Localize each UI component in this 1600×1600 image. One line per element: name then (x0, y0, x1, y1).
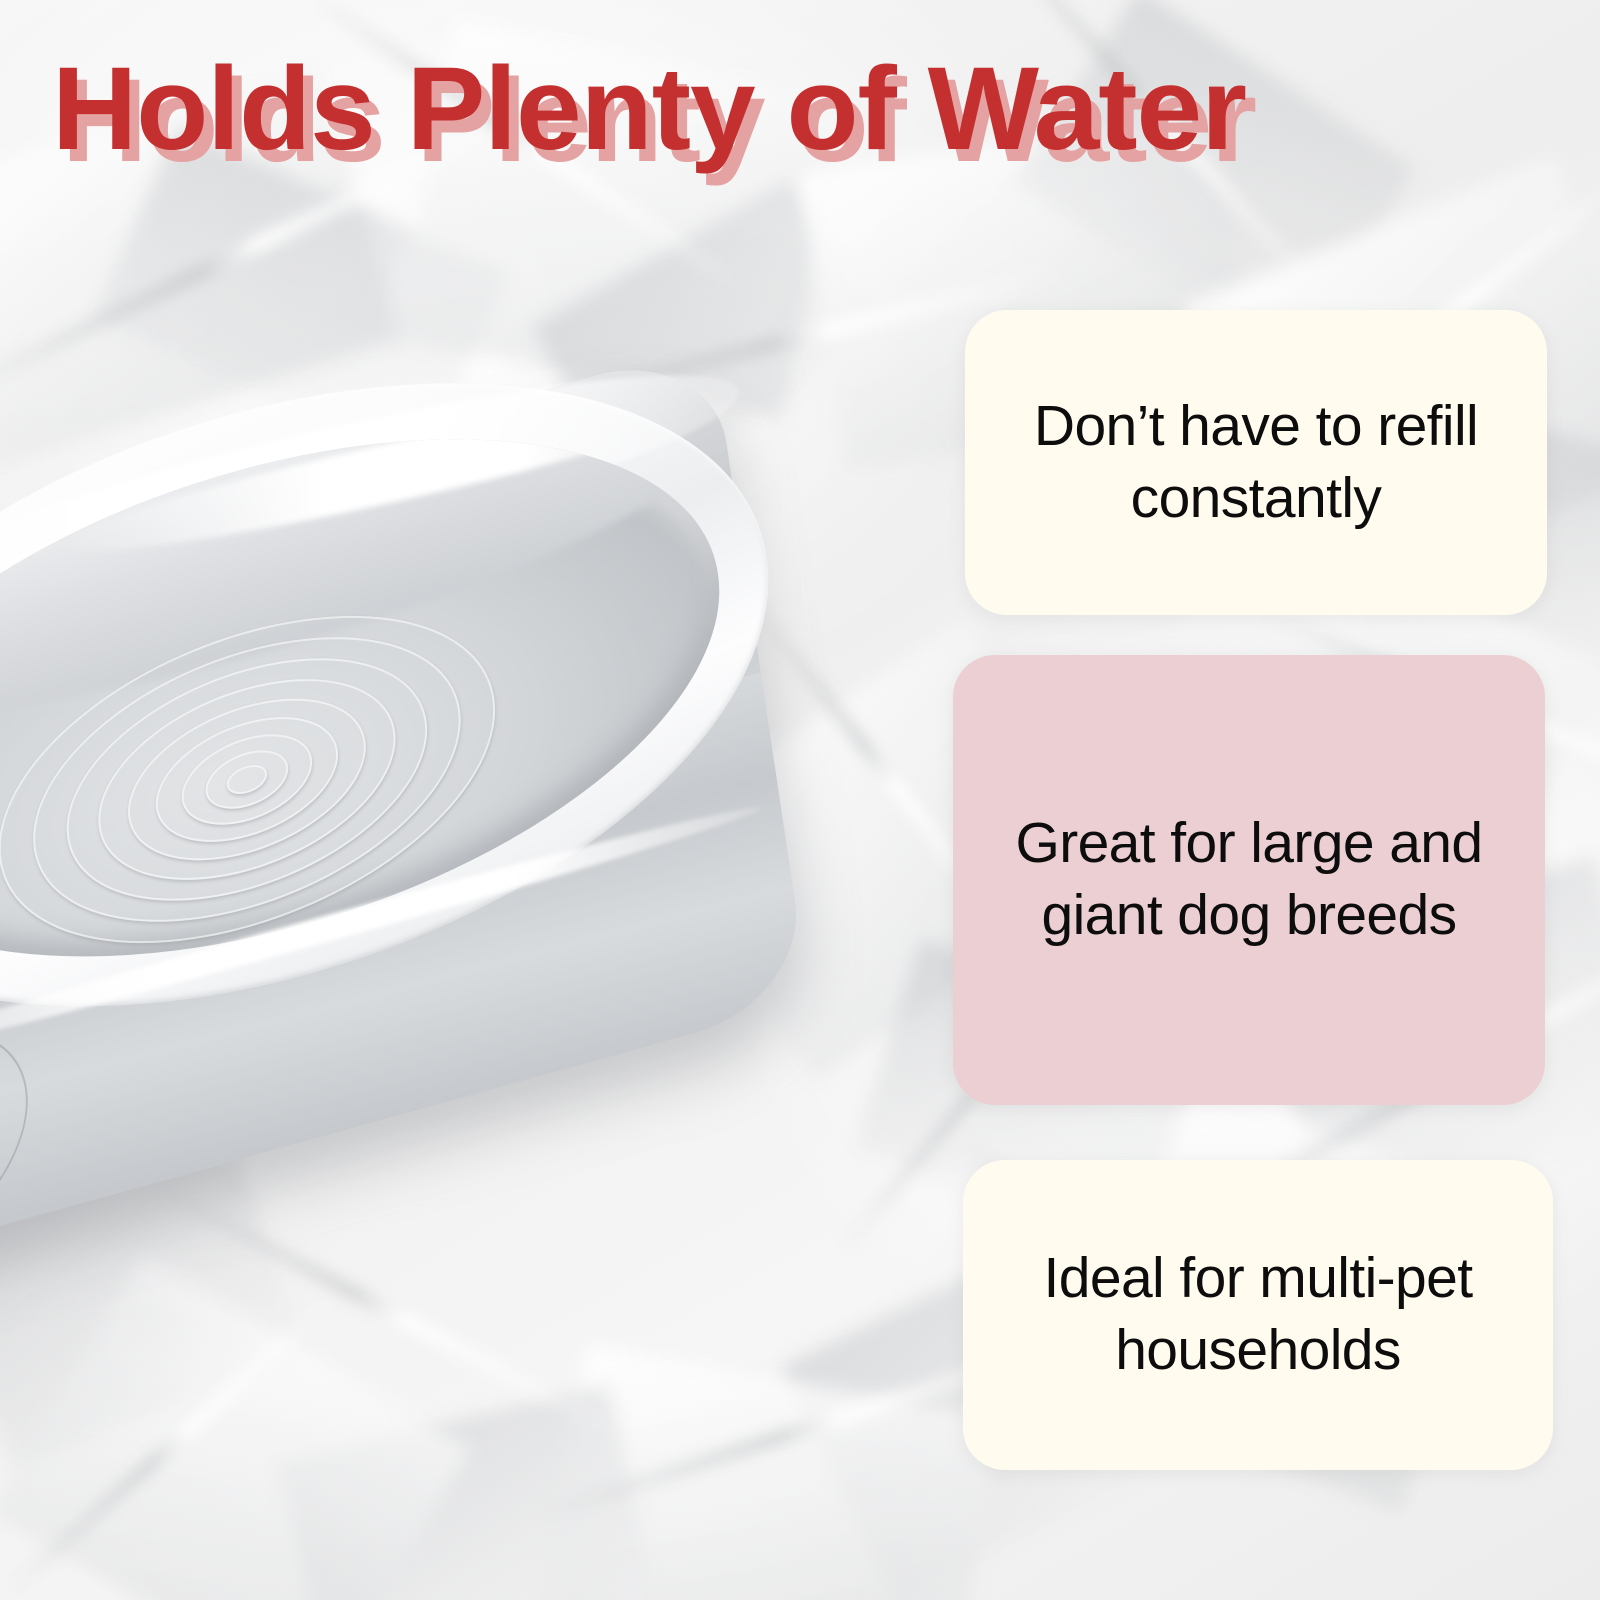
callout-box-large-breeds: Great for large and giant dog breeds (953, 655, 1545, 1105)
callout-text-multi-pet: Ideal for multi-pet households (963, 1243, 1553, 1387)
product-image-pet-bowl: 18/8 Stainless Steel Large Pet Bowl peda… (0, 400, 900, 1410)
callout-box-multi-pet: Ideal for multi-pet households (963, 1160, 1553, 1470)
page-title: Holds Plenty of Water Holds Plenty of Wa… (52, 48, 1472, 172)
callout-text-refill: Don’t have to refill constantly (965, 391, 1547, 535)
headline-text: Holds Plenty of Water (52, 43, 1246, 175)
product-marketing-image: Holds Plenty of Water Holds Plenty of Wa… (0, 0, 1600, 1600)
callout-text-large-breeds: Great for large and giant dog breeds (953, 808, 1545, 952)
callout-box-refill: Don’t have to refill constantly (965, 310, 1547, 615)
